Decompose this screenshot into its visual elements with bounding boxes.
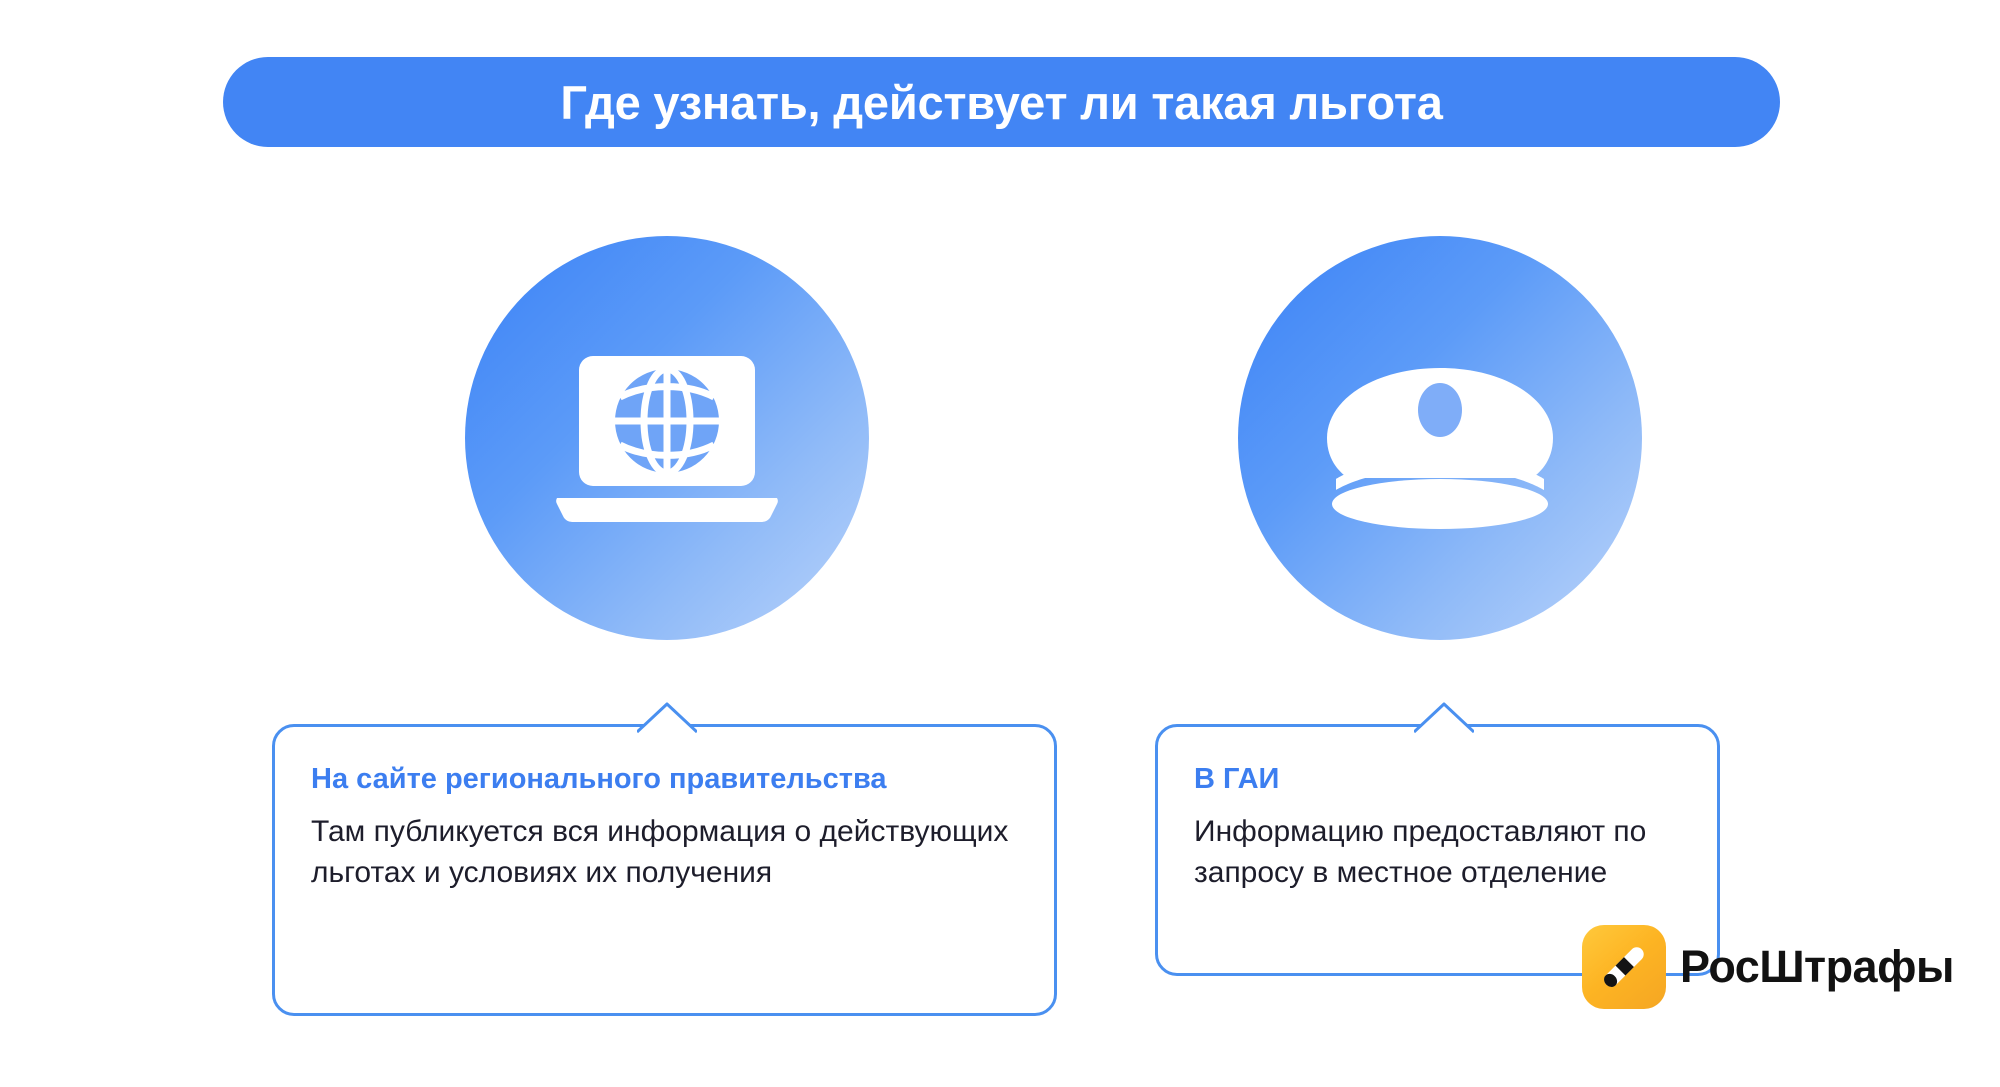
- callout-body: Там публикуется вся информация о действу…: [311, 812, 1018, 894]
- police-cap-icon: [1310, 338, 1570, 538]
- callout-body: Информацию предоставляют по запросу в ме…: [1194, 812, 1681, 894]
- baton-icon: [1582, 925, 1666, 1009]
- callout-card-website: На сайте регионального правительства Там…: [272, 724, 1057, 1016]
- page-title: Где узнать, действует ли такая льгота: [560, 79, 1442, 126]
- callout-pointer: [637, 702, 693, 730]
- icon-circle-police: [1238, 236, 1642, 640]
- brand-logo[interactable]: РосШтрафы: [1582, 925, 1954, 1009]
- brand-name: РосШтрафы: [1680, 941, 1954, 993]
- callout-heading: На сайте регионального правительства: [311, 761, 1018, 798]
- callout-heading: В ГАИ: [1194, 761, 1681, 798]
- header-banner: Где узнать, действует ли такая льгота: [223, 57, 1780, 147]
- laptop-globe-icon: [547, 338, 787, 538]
- icon-circle-website: [465, 236, 869, 640]
- callout-pointer: [1414, 702, 1470, 730]
